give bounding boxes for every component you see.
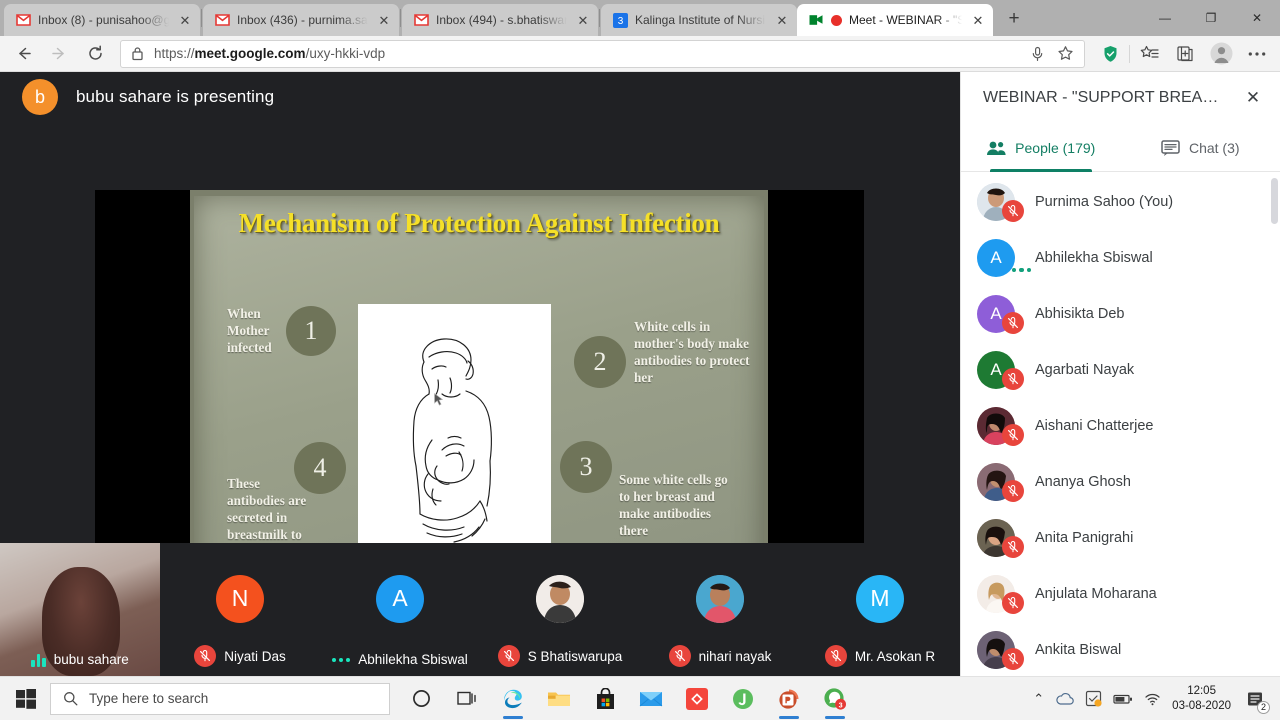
tile-footer: Niyati Das: [160, 645, 320, 667]
gmail-icon: [214, 12, 230, 28]
browser-tab-2[interactable]: Inbox (436) - purnima.saho ✕: [203, 4, 399, 36]
windows-icon[interactable]: [4, 677, 48, 720]
edge-icon[interactable]: [492, 677, 534, 720]
divider: [599, 9, 600, 27]
whatsapp-icon[interactable]: 3: [814, 677, 856, 720]
avatar: [977, 407, 1015, 445]
mic-muted-icon: [669, 645, 691, 667]
tab-title: Meet - WEBINAR - "SU: [849, 13, 962, 27]
browser-tab-4[interactable]: 3 Kalinga Institute of Nursing ✕: [601, 4, 797, 36]
tab-title: Kalinga Institute of Nursing: [635, 13, 766, 27]
mouse-cursor-icon: [434, 393, 443, 406]
tile-footer: S Bhatiswarupa: [480, 645, 640, 667]
mic-muted-icon: [1002, 480, 1024, 502]
slide-step-number: 1: [286, 306, 336, 356]
avatar: N: [216, 575, 264, 623]
participant-name: S Bhatiswarupa: [528, 649, 623, 664]
browser-tab-5[interactable]: Meet - WEBINAR - "SU ✕: [797, 4, 993, 36]
browser-window: Inbox (8) - punisahoo@gm ✕ Inbox (436) -…: [0, 0, 1280, 720]
star-icon[interactable]: [1057, 45, 1074, 62]
participant-tile[interactable]: S Bhatiswarupa: [480, 543, 640, 676]
mic-muted-icon: [1002, 312, 1024, 334]
divider: [1129, 45, 1130, 63]
browser-tab-3[interactable]: Inbox (494) - s.bhatiswarup ✕: [402, 4, 598, 36]
participant-name: Agarbati Nayak: [1031, 362, 1134, 378]
participant-tile[interactable]: nihari nayak: [640, 543, 800, 676]
show-hidden-icons-chevron[interactable]: ⌃: [1033, 691, 1044, 707]
participant-tile-presenter[interactable]: bubu sahare: [0, 543, 160, 676]
address-bar[interactable]: https://meet.google.com/uxy-hkki-vdp: [120, 40, 1085, 68]
onedrive-icon[interactable]: [1055, 692, 1074, 706]
slide-step-text: When Mother infected: [227, 305, 289, 356]
mic-muted-icon: [1002, 536, 1024, 558]
gmail-icon: [15, 12, 31, 28]
classroom-icon: 3: [612, 12, 628, 28]
slide-step-number: 3: [560, 441, 612, 493]
clock-date: 03-08-2020: [1172, 699, 1231, 713]
list-item[interactable]: Ankita Biswal: [961, 622, 1280, 676]
participant-tile[interactable]: M Mr. Asokan R: [800, 543, 960, 676]
mic-muted-icon: [498, 645, 520, 667]
avatar: A: [376, 575, 424, 623]
mic-muted-icon: [1002, 592, 1024, 614]
reload-icon[interactable]: [78, 39, 112, 69]
avatar: [977, 463, 1015, 501]
tile-footer: nihari nayak: [640, 645, 800, 667]
search-icon: [63, 691, 78, 706]
powerpoint-icon[interactable]: [768, 677, 810, 720]
microphone-icon[interactable]: [1030, 46, 1045, 62]
list-item[interactable]: Anjulata Moharana: [961, 566, 1280, 622]
meeting-title: WEBINAR - "SUPPORT BREA…: [983, 89, 1230, 107]
panel-tabs: People (179) Chat (3): [961, 124, 1280, 172]
participant-name: Abhilekha Sbiswal: [1031, 250, 1153, 266]
talking-dots-icon: [1012, 268, 1032, 273]
mic-muted-icon: [825, 645, 847, 667]
people-icon: [986, 140, 1006, 156]
system-tray: ⌃ 12:05 03-08-2020 2: [1033, 684, 1276, 713]
avatar: A: [977, 239, 1015, 277]
participant-name: nihari nayak: [699, 649, 772, 664]
list-item[interactable]: Aishani Chatterjee: [961, 398, 1280, 454]
clock[interactable]: 12:05 03-08-2020: [1172, 684, 1231, 713]
tile-footer: bubu sahare: [0, 652, 160, 667]
presentation-stage: b bubu sahare is presenting Mechanism of…: [0, 72, 960, 676]
tab-chat[interactable]: Chat (3): [1121, 124, 1280, 171]
cortana-icon[interactable]: [400, 677, 442, 720]
participant-name: Anita Panigrahi: [1031, 530, 1133, 546]
url-text: https://meet.google.com/uxy-hkki-vdp: [154, 46, 385, 61]
mic-muted-icon: [1002, 648, 1024, 670]
list-item[interactable]: A Agarbati Nayak: [961, 342, 1280, 398]
close-panel-button[interactable]: ✕: [1240, 85, 1266, 111]
window-controls: — ❐ ✕: [1142, 0, 1280, 36]
participant-name: bubu sahare: [54, 652, 129, 667]
close-icon[interactable]: ✕: [375, 11, 393, 29]
browser-toolbar: https://meet.google.com/uxy-hkki-vdp: [0, 36, 1280, 72]
slide-step-text: Some white cells go to her breast and ma…: [619, 471, 739, 540]
browser-tab-1[interactable]: Inbox (8) - punisahoo@gm ✕: [4, 4, 200, 36]
participant-tile[interactable]: N Niyati Das: [160, 543, 320, 676]
speaking-indicator-icon: [31, 652, 46, 667]
participant-filmstrip: bubu sahare N Niyati Das A: [0, 543, 960, 676]
participant-name: Anjulata Moharana: [1031, 586, 1157, 602]
presenting-label: bubu sahare is presenting: [76, 87, 274, 107]
divider: [400, 9, 401, 27]
clock-time: 12:05: [1172, 684, 1231, 698]
mail-icon[interactable]: [630, 677, 672, 720]
avatar: [977, 183, 1015, 221]
google-meet-app: b bubu sahare is presenting Mechanism of…: [0, 72, 1280, 676]
list-item[interactable]: Ananya Ghosh: [961, 454, 1280, 510]
list-item[interactable]: A Abhisikta Deb: [961, 286, 1280, 342]
back-icon[interactable]: [6, 39, 40, 69]
mic-muted-icon: [1002, 424, 1024, 446]
list-item[interactable]: Purnima Sahoo (You): [961, 174, 1280, 230]
taskbar-icons: 3: [400, 677, 856, 720]
scrollbar-thumb[interactable]: [1271, 178, 1278, 224]
wifi-icon[interactable]: [1144, 692, 1161, 706]
avatar-initial: A: [977, 239, 1015, 277]
tab-chat-label: Chat (3): [1189, 140, 1240, 156]
tab-title: Inbox (436) - purnima.saho: [237, 13, 368, 27]
ellipsis-icon[interactable]: [1240, 39, 1274, 69]
participant-name: Mr. Asokan R: [855, 649, 935, 664]
maximize-button[interactable]: ❐: [1188, 0, 1234, 36]
avatar: A: [977, 351, 1015, 389]
list-item[interactable]: A Abhilekha Sbiswal: [961, 230, 1280, 286]
collections-icon[interactable]: [1168, 39, 1202, 69]
chat-icon: [1161, 140, 1180, 156]
participants-list[interactable]: Purnima Sahoo (You) A Abhilekha Sbiswal …: [961, 172, 1280, 676]
close-icon[interactable]: ✕: [574, 11, 592, 29]
tile-footer: Abhilekha Sbiswal: [320, 652, 480, 667]
new-tab-button[interactable]: +: [999, 4, 1029, 34]
adobe-icon[interactable]: [676, 677, 718, 720]
notification-icon[interactable]: 2: [1242, 686, 1268, 712]
tab-title: Inbox (494) - s.bhatiswarup: [436, 13, 567, 27]
avatar: [977, 575, 1015, 613]
account-icon[interactable]: [1204, 39, 1238, 69]
presenting-banner: b bubu sahare is presenting: [0, 72, 960, 122]
tab-strip: Inbox (8) - punisahoo@gm ✕ Inbox (436) -…: [0, 0, 1280, 36]
participant-name: Purnima Sahoo (You): [1031, 194, 1173, 210]
jio-icon[interactable]: [722, 677, 764, 720]
tile-footer: Mr. Asokan R: [800, 645, 960, 667]
slide-step-text: White cells in mother's body make antibo…: [634, 318, 759, 387]
recording-indicator-icon: [831, 15, 842, 26]
divider: [201, 9, 202, 27]
battery-icon[interactable]: [1113, 693, 1133, 705]
security-icon[interactable]: [1085, 690, 1102, 707]
file-explorer-icon[interactable]: [538, 677, 580, 720]
lock-icon: [131, 46, 144, 61]
favorites-list-icon[interactable]: [1132, 39, 1166, 69]
mic-muted-icon: [194, 645, 216, 667]
participant-name: Abhilekha Sbiswal: [358, 652, 468, 667]
avatar: A: [977, 295, 1015, 333]
microsoft-store-icon[interactable]: [584, 677, 626, 720]
search-input[interactable]: Type here to search: [50, 683, 390, 715]
tab-people[interactable]: People (179): [961, 124, 1121, 171]
close-icon[interactable]: ✕: [969, 11, 987, 29]
svg-text:3: 3: [839, 700, 843, 709]
presenter-avatar: b: [22, 79, 58, 115]
panel-header: WEBINAR - "SUPPORT BREA… ✕: [961, 72, 1280, 124]
participant-name: Ankita Biswal: [1031, 642, 1121, 658]
talking-dots-icon: [332, 658, 350, 662]
slide-illustration: [358, 304, 551, 576]
svg-text:3: 3: [617, 16, 623, 27]
tab-title: Inbox (8) - punisahoo@gm: [38, 13, 169, 27]
notification-count: 2: [1257, 701, 1270, 714]
gmail-icon: [413, 12, 429, 28]
avatar: [977, 631, 1015, 669]
participant-tile[interactable]: A Abhilekha Sbiswal: [320, 543, 480, 676]
slide-step-number: 2: [574, 336, 626, 388]
mic-muted-icon: [1002, 200, 1024, 222]
participant-name: Abhisikta Deb: [1031, 306, 1124, 322]
avatar: [536, 575, 584, 623]
participant-name: Niyati Das: [224, 649, 286, 664]
slide-title: Mechanism of Protection Against Infectio…: [194, 207, 764, 241]
close-icon[interactable]: ✕: [773, 11, 791, 29]
avatar: [977, 519, 1015, 557]
task-view-icon[interactable]: [446, 677, 488, 720]
side-panel: WEBINAR - "SUPPORT BREA… ✕ People (179) …: [960, 72, 1280, 676]
avatar: M: [856, 575, 904, 623]
tab-people-label: People (179): [1015, 140, 1095, 156]
minimize-button[interactable]: —: [1142, 0, 1188, 36]
close-icon[interactable]: ✕: [176, 11, 194, 29]
windows-taskbar: Type here to search: [0, 676, 1280, 720]
meet-icon: [808, 12, 824, 28]
participant-name: Aishani Chatterjee: [1031, 418, 1154, 434]
participant-name: Ananya Ghosh: [1031, 474, 1131, 490]
forward-icon: [42, 39, 76, 69]
search-placeholder: Type here to search: [89, 691, 208, 706]
avatar: [696, 575, 744, 623]
close-window-button[interactable]: ✕: [1234, 0, 1280, 36]
mic-muted-icon: [1002, 368, 1024, 390]
shield-check-icon[interactable]: [1093, 39, 1127, 69]
list-item[interactable]: Anita Panigrahi: [961, 510, 1280, 566]
